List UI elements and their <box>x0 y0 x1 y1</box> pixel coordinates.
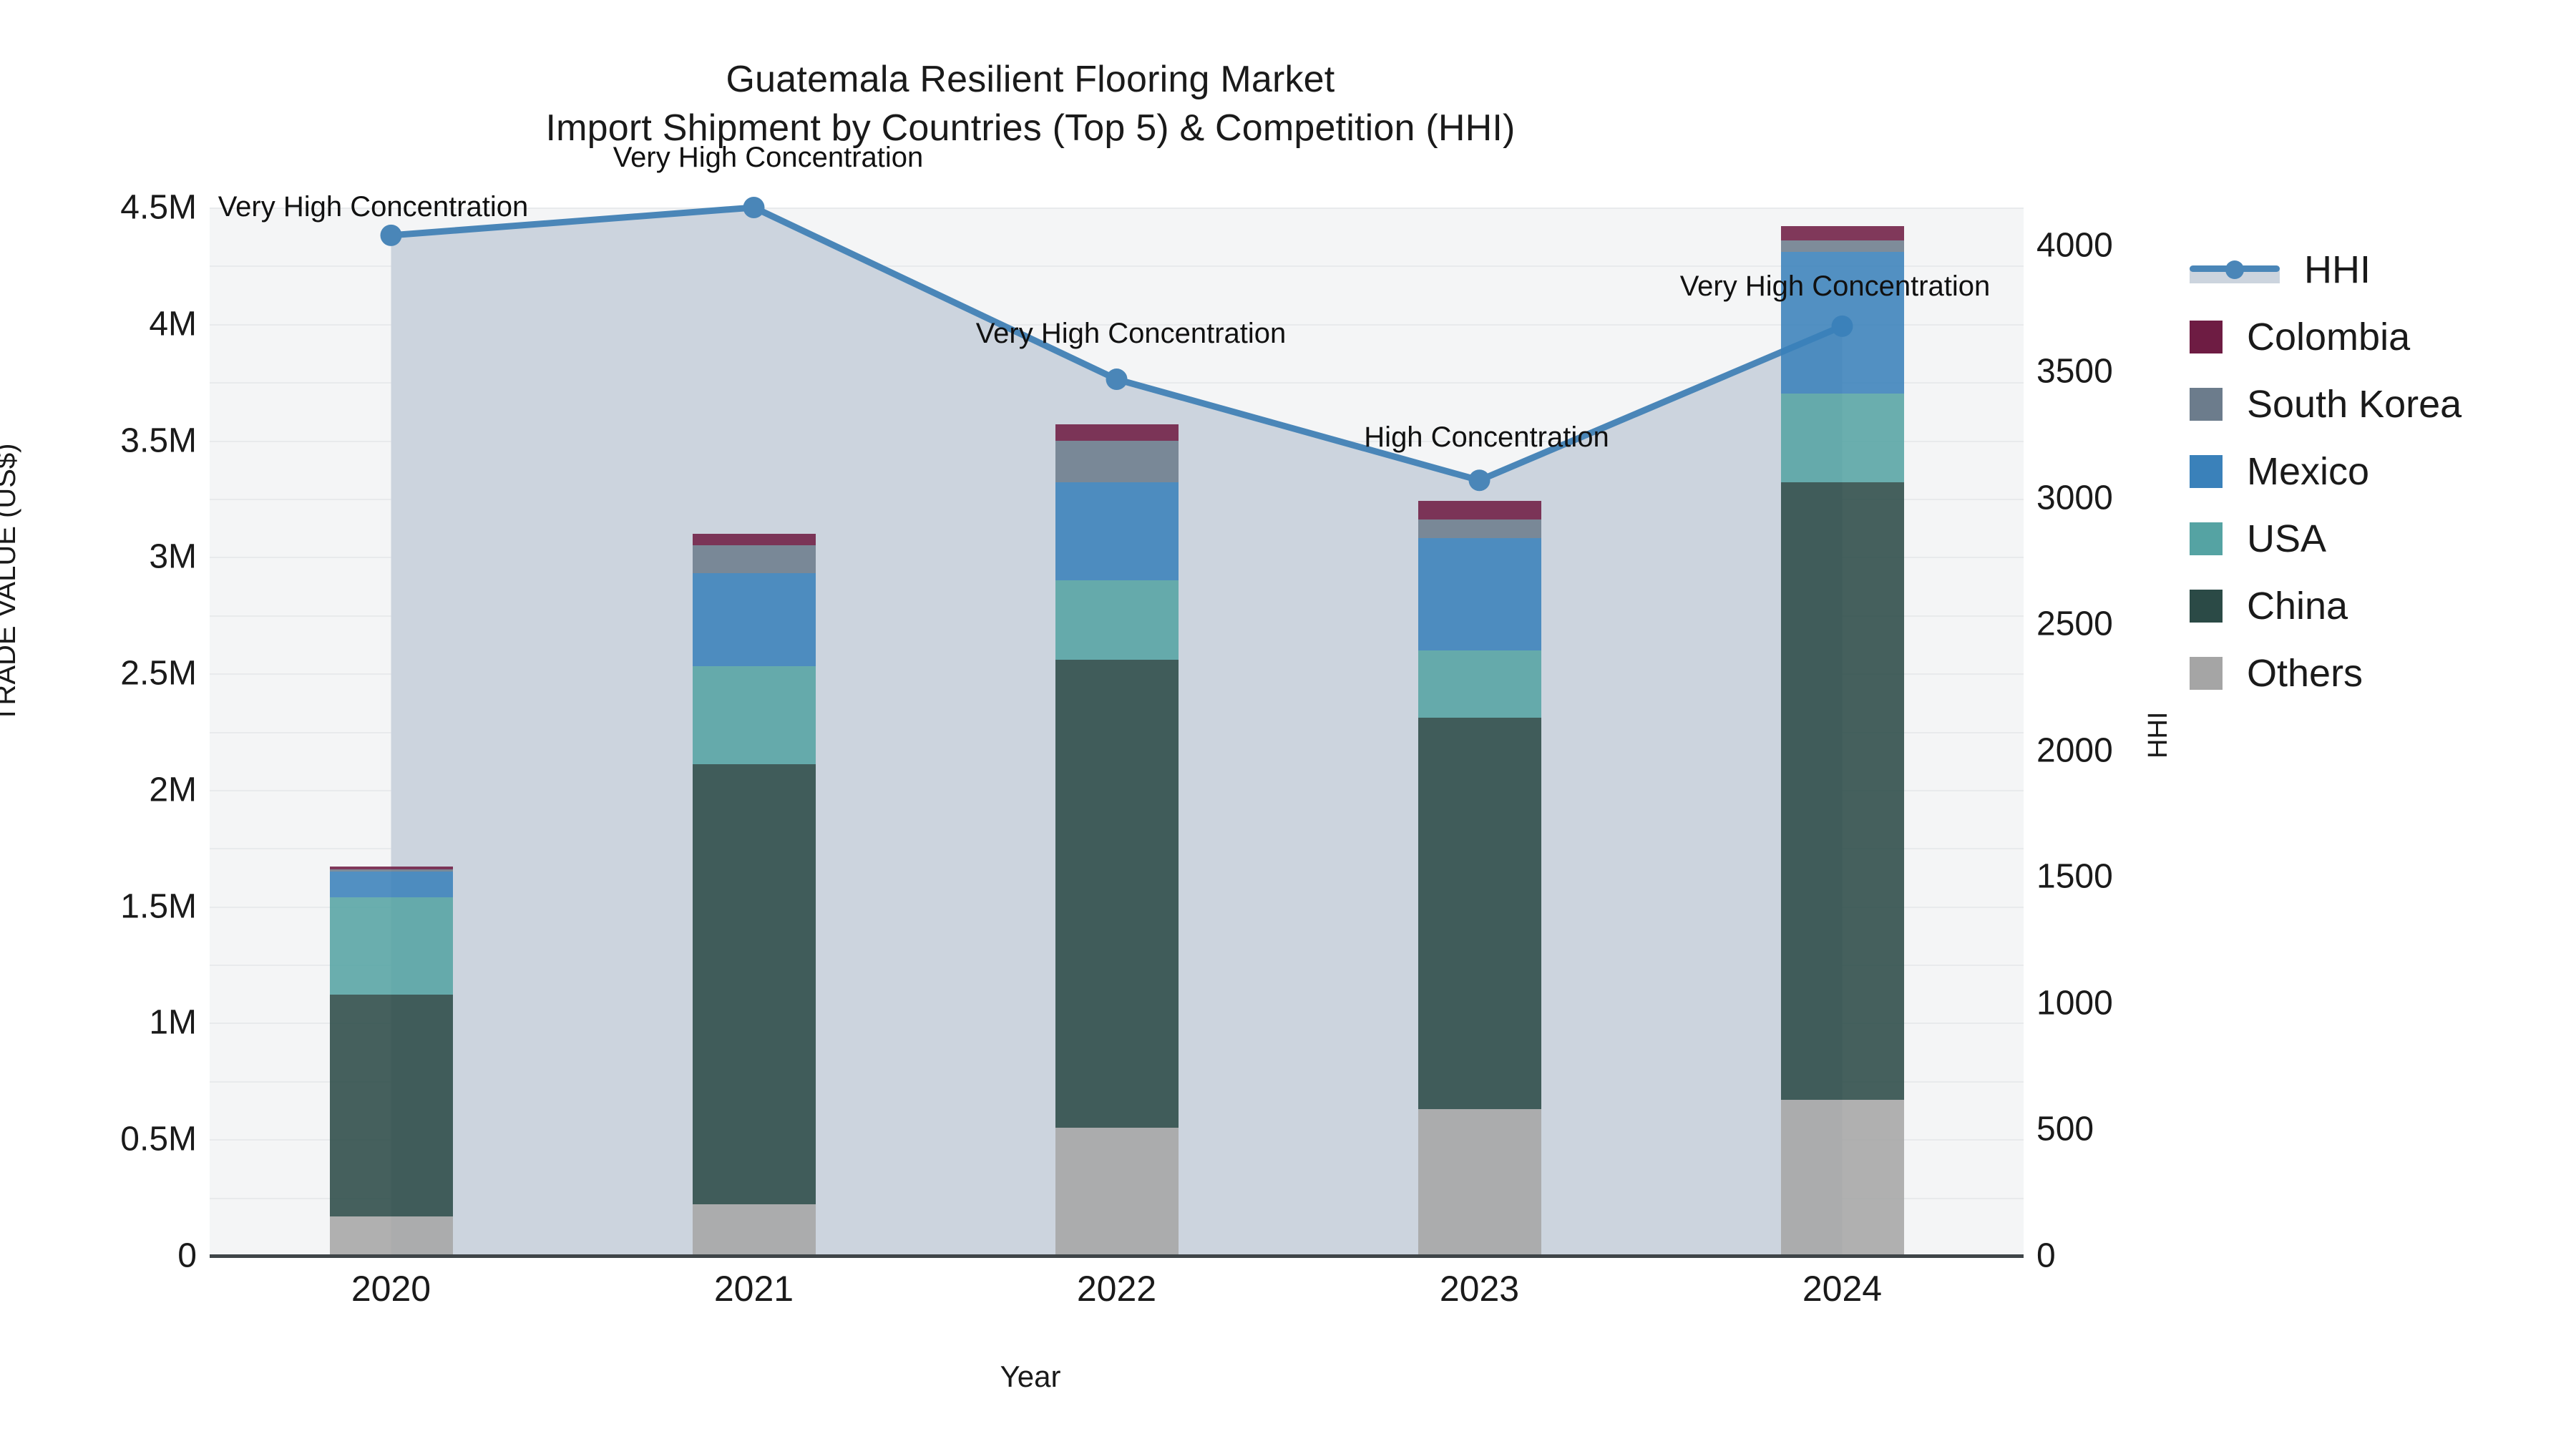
legend: HHIColombiaSouth KoreaMexicoUSAChinaOthe… <box>2190 236 2462 707</box>
legend-swatch-colombia <box>2190 321 2223 353</box>
bar-stack-2021[interactable] <box>693 208 816 1256</box>
bar-segment-others[interactable] <box>1418 1109 1541 1256</box>
y-axis-left-tick-label: 0 <box>24 1236 210 1276</box>
legend-swatch-mexico <box>2190 455 2223 488</box>
y-axis-right-tick-label: 1000 <box>2024 983 2210 1023</box>
y-axis-right-tick-label: 2000 <box>2024 731 2210 770</box>
bar-segment-china[interactable] <box>1055 660 1179 1128</box>
bar-segment-mexico[interactable] <box>330 872 453 897</box>
annotation-2024: Very High Concentration <box>1680 270 1991 303</box>
bar-segment-usa[interactable] <box>1418 650 1541 718</box>
bar-segment-colombia[interactable] <box>1781 226 1904 240</box>
legend-item-colombia[interactable]: Colombia <box>2190 303 2462 371</box>
y-axis-right-title: HHI <box>2143 712 2174 758</box>
bar-segment-china[interactable] <box>693 764 816 1204</box>
bar-segment-mexico[interactable] <box>1418 538 1541 650</box>
legend-label: Colombia <box>2247 315 2410 359</box>
chart-title-line-1: Guatemala Resilient Flooring Market <box>0 56 2061 104</box>
legend-swatch-usa <box>2190 522 2223 555</box>
bar-segment-china[interactable] <box>330 995 453 1216</box>
x-axis-tick-label-2024: 2024 <box>1735 1268 1950 1309</box>
y-axis-left-tick-label: 0.5M <box>24 1120 210 1159</box>
bar-segment-south-korea[interactable] <box>1055 441 1179 483</box>
legend-label: HHI <box>2304 248 2371 292</box>
chart-container: Guatemala Resilient Flooring Market Impo… <box>0 0 2576 1449</box>
legend-item-others[interactable]: Others <box>2190 640 2462 707</box>
y-axis-right-tick-label: 3500 <box>2024 352 2210 391</box>
x-axis-tick-label-2021: 2021 <box>647 1268 862 1309</box>
y-axis-right-tick-label: 500 <box>2024 1110 2210 1149</box>
bar-segment-south-korea[interactable] <box>1418 519 1541 538</box>
bar-segment-south-korea[interactable] <box>1781 240 1904 252</box>
bar-segment-south-korea[interactable] <box>693 545 816 573</box>
chart-title: Guatemala Resilient Flooring Market Impo… <box>0 56 2061 152</box>
bar-segment-china[interactable] <box>1781 482 1904 1100</box>
annotation-2023: High Concentration <box>1364 421 1609 454</box>
bar-stack-2023[interactable] <box>1418 208 1541 1256</box>
y-axis-right-tick-label: 1500 <box>2024 857 2210 897</box>
bar-segment-mexico[interactable] <box>693 573 816 666</box>
bar-segment-usa[interactable] <box>1781 394 1904 482</box>
bar-segment-others[interactable] <box>330 1216 453 1256</box>
bar-segment-colombia[interactable] <box>330 867 453 869</box>
bar-segment-colombia[interactable] <box>693 534 816 545</box>
y-axis-left-title: TRADE VALUE (US$) <box>0 444 22 723</box>
plot-area <box>210 208 2024 1256</box>
legend-item-china[interactable]: China <box>2190 572 2462 640</box>
bar-segment-colombia[interactable] <box>1055 424 1179 441</box>
y-axis-left-tick-label: 4.5M <box>24 188 210 228</box>
legend-label: Mexico <box>2247 449 2369 494</box>
bar-segment-south-korea[interactable] <box>330 869 453 872</box>
bar-segment-usa[interactable] <box>330 897 453 995</box>
legend-item-south-korea[interactable]: South Korea <box>2190 371 2462 438</box>
bar-segment-others[interactable] <box>693 1204 816 1256</box>
y-axis-right-tick-label: 4000 <box>2024 225 2210 265</box>
bar-segment-others[interactable] <box>1055 1128 1179 1256</box>
x-axis-tick-label-2023: 2023 <box>1372 1268 1587 1309</box>
y-axis-left-ticks: 00.5M1M1.5M2M2.5M3M3.5M4M4.5M <box>0 208 210 1256</box>
legend-label: Others <box>2247 651 2363 696</box>
annotation-2022: Very High Concentration <box>976 318 1287 350</box>
legend-line-marker-icon <box>2190 253 2280 286</box>
legend-label: South Korea <box>2247 382 2462 426</box>
legend-swatch-china <box>2190 590 2223 623</box>
x-axis-title: Year <box>0 1360 2061 1394</box>
bar-stack-2020[interactable] <box>330 208 453 1256</box>
bar-segment-others[interactable] <box>1781 1100 1904 1256</box>
bar-segment-usa[interactable] <box>1055 580 1179 660</box>
legend-item-usa[interactable]: USA <box>2190 505 2462 572</box>
y-axis-right-tick-label: 2500 <box>2024 605 2210 644</box>
bar-segment-usa[interactable] <box>693 666 816 764</box>
bar-segment-china[interactable] <box>1418 718 1541 1109</box>
legend-marker-dot <box>2225 260 2244 279</box>
bar-segment-mexico[interactable] <box>1055 482 1179 580</box>
bar-stack-2024[interactable] <box>1781 208 1904 1256</box>
bar-segment-colombia[interactable] <box>1418 501 1541 519</box>
annotation-2021: Very High Concentration <box>613 142 924 174</box>
x-axis-tick-label-2020: 2020 <box>284 1268 499 1309</box>
y-axis-left-tick-label: 2.5M <box>24 654 210 693</box>
y-axis-left-tick-label: 1.5M <box>24 887 210 926</box>
y-axis-left-tick-label: 3M <box>24 537 210 577</box>
legend-label: China <box>2247 584 2348 628</box>
legend-item-hhi[interactable]: HHI <box>2190 236 2462 303</box>
y-axis-right-tick-label: 0 <box>2024 1236 2210 1276</box>
y-axis-right-tick-label: 3000 <box>2024 478 2210 517</box>
y-axis-left-tick-label: 4M <box>24 304 210 343</box>
bar-stack-2022[interactable] <box>1055 208 1179 1256</box>
y-axis-left-tick-label: 1M <box>24 1003 210 1043</box>
y-axis-left-tick-label: 2M <box>24 770 210 809</box>
x-axis-line <box>210 1254 2024 1258</box>
chart-title-line-2: Import Shipment by Countries (Top 5) & C… <box>0 104 2061 153</box>
legend-label: USA <box>2247 517 2326 561</box>
x-axis-tick-label-2022: 2022 <box>1010 1268 1224 1309</box>
legend-swatch-others <box>2190 657 2223 690</box>
legend-item-mexico[interactable]: Mexico <box>2190 438 2462 505</box>
y-axis-left-tick-label: 3.5M <box>24 421 210 460</box>
annotation-2020: Very High Concentration <box>218 191 529 223</box>
legend-swatch-south-korea <box>2190 388 2223 421</box>
